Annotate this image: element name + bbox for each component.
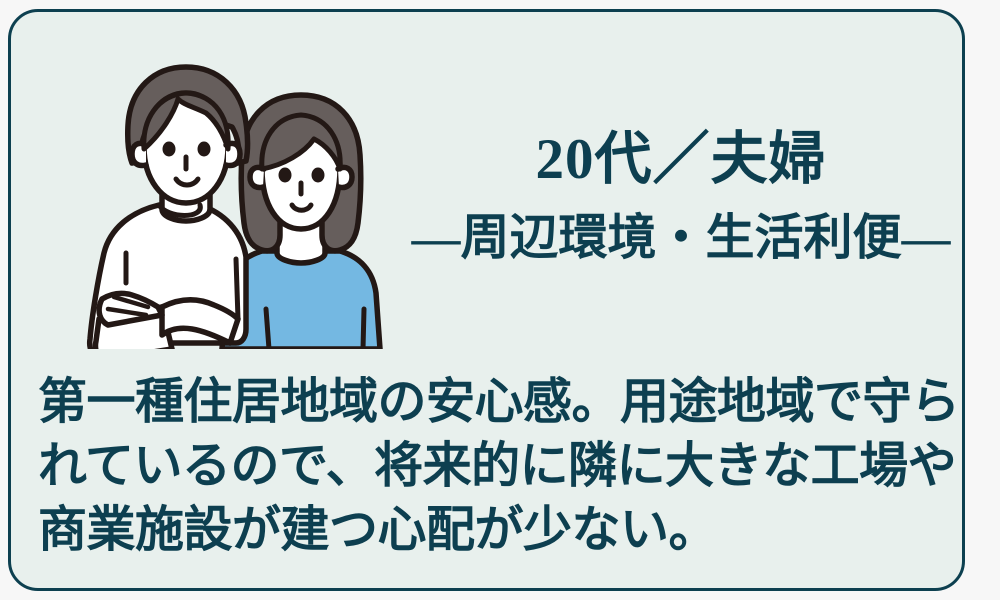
body-paragraph: 第一種住居地域の安心感。用途地域で守られているので、将来的に隣に大きな工場や商業… bbox=[38, 370, 965, 562]
heading-block: 20代／夫婦 ―周辺環境・生活利便― bbox=[391, 130, 965, 263]
page-title: 20代／夫婦 bbox=[391, 130, 965, 190]
page-subtitle: ―周辺環境・生活利便― bbox=[391, 212, 965, 263]
man-seam-right bbox=[236, 259, 238, 319]
screenshot-root: 20代／夫婦 ―周辺環境・生活利便― 第一種住居地域の安心感。用途地域で守られて… bbox=[0, 0, 1000, 600]
woman-eye-left bbox=[279, 168, 292, 183]
man-eye-right bbox=[198, 142, 211, 157]
persona-card: 20代／夫婦 ―周辺環境・生活利便― 第一種住居地域の安心感。用途地域で守られて… bbox=[8, 9, 965, 591]
woman-neck bbox=[277, 227, 325, 263]
couple-illustration-svg bbox=[66, 57, 406, 357]
man-figure bbox=[90, 67, 248, 357]
woman-seam-left bbox=[266, 309, 269, 349]
couple-illustration bbox=[66, 57, 406, 357]
man-eye-left bbox=[163, 142, 176, 157]
woman-eye-right bbox=[312, 168, 325, 183]
woman-seam-right bbox=[363, 309, 364, 349]
